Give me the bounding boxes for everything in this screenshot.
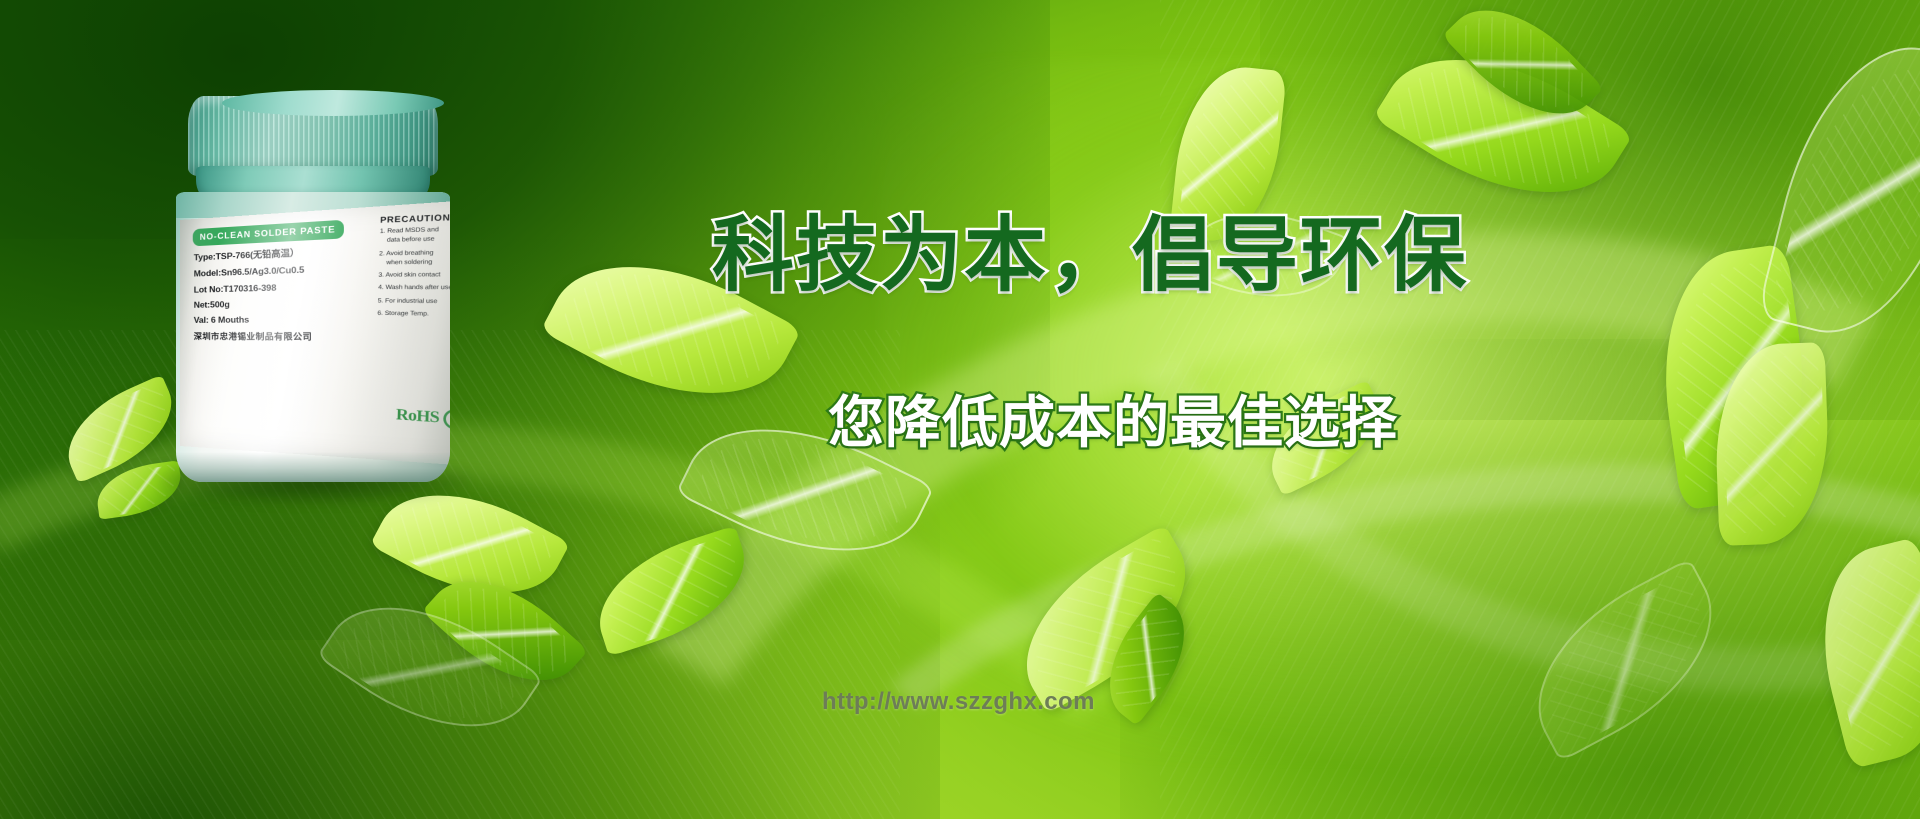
jar-body-bottom-shadow	[176, 452, 450, 482]
banner-headline: 科技为本，倡导环保	[712, 215, 1468, 297]
precautions-item-text: Avoid breathing	[386, 249, 433, 257]
precautions-item-sub: when soldering	[379, 258, 450, 269]
precautions-title: PRECAUTIONS	[380, 210, 450, 225]
product-label-spec-validity: Val: 6 Mouths	[194, 313, 360, 325]
precautions-item-text: Avoid skin contact	[385, 272, 440, 279]
product-label-spec-lot: Lot No:T170316-398	[194, 279, 360, 294]
precautions-item-num: 1.	[380, 229, 386, 236]
precautions-item: 5. For industrial use	[378, 298, 450, 308]
company-website-url: http://www.szzghx.com	[822, 688, 1095, 716]
precautions-item: 3. Avoid skin contact	[378, 271, 450, 281]
product-label-left-column: NO-CLEAN SOLDER PASTE Type:TSP-766(无铅高温）…	[194, 217, 360, 344]
product-label-spec-net: Net:500g	[194, 296, 360, 309]
product-label-spec-type: Type:TSP-766(无铅高温）	[194, 243, 360, 263]
precautions-item: 1. Read MSDS and data before use	[379, 225, 450, 247]
precautions-item-num: 6.	[377, 310, 383, 317]
precautions-item-text: Read MSDS and	[387, 227, 439, 235]
rohs-certification-mark: RoHS	[396, 406, 450, 430]
leaf-icon	[1713, 342, 1832, 546]
jar-lid-top	[222, 90, 444, 116]
rohs-label: RoHS	[396, 406, 440, 427]
precautions-item: 6. Storage Temp.	[377, 310, 450, 321]
product-label-pill: NO-CLEAN SOLDER PASTE	[193, 219, 344, 246]
banner-subtitle: 您降低成本的最佳选择	[828, 396, 1398, 452]
precautions-item: 4. Wash hands after use	[378, 285, 450, 295]
eco-product-banner: NO-CLEAN SOLDER PASTE Type:TSP-766(无铅高温）…	[0, 0, 1920, 819]
precautions-item-num: 3.	[378, 272, 384, 279]
jar-body: NO-CLEAN SOLDER PASTE Type:TSP-766(无铅高温）…	[176, 192, 450, 482]
precautions-item-text: For industrial use	[385, 298, 438, 305]
rohs-ring-icon	[443, 409, 450, 430]
product-jar-image: NO-CLEAN SOLDER PASTE Type:TSP-766(无铅高温）…	[168, 96, 458, 486]
precautions-item-sub: data before use	[379, 235, 450, 247]
precautions-item-text: Storage Temp.	[385, 311, 429, 318]
jar-lid	[188, 96, 438, 176]
product-label-spec-model: Model:Sn96.5/Ag3.0/Cu0.5	[194, 262, 360, 278]
product-label: NO-CLEAN SOLDER PASTE Type:TSP-766(无铅高温）…	[180, 199, 450, 467]
precautions-item-num: 2.	[379, 250, 385, 257]
precautions-item: 2. Avoid breathing when soldering	[379, 248, 450, 268]
precautions-item-num: 4.	[378, 285, 384, 292]
precautions-item-num: 5.	[378, 298, 384, 305]
precautions-item-text: Wash hands after use	[385, 285, 450, 292]
product-label-precautions: PRECAUTIONS 1. Read MSDS and data before…	[377, 210, 450, 321]
product-label-company-name: 深圳市忠港锡业制品有限公司	[194, 330, 360, 343]
